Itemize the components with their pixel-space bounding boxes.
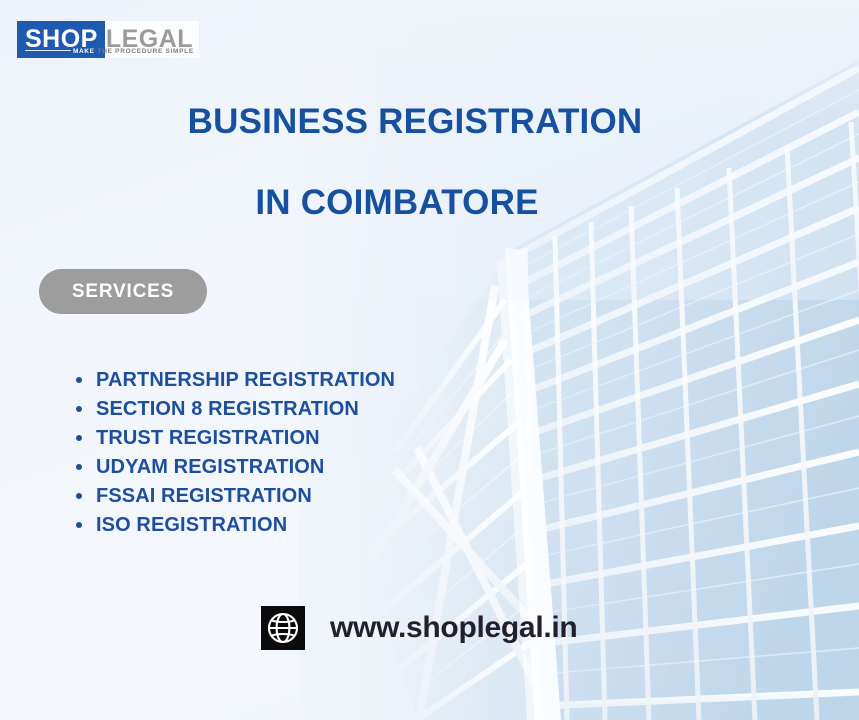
service-label: TRUST REGISTRATION: [96, 427, 320, 449]
services-badge-label: SERVICES: [72, 281, 174, 303]
list-item: UDYAM REGISTRATION: [70, 456, 395, 478]
website-url[interactable]: www.shoplegal.in: [330, 611, 577, 645]
list-item: TRUST REGISTRATION: [70, 427, 395, 449]
services-list: PARTNERSHIP REGISTRATION SECTION 8 REGIS…: [70, 369, 395, 543]
bullet-icon: [76, 464, 82, 470]
logo-tagline-make: MAKE: [73, 48, 98, 55]
bullet-icon: [76, 522, 82, 528]
bullet-icon: [76, 493, 82, 499]
service-label: UDYAM REGISTRATION: [96, 456, 324, 478]
service-label: ISO REGISTRATION: [96, 514, 287, 536]
services-badge: SERVICES: [39, 269, 207, 314]
promotional-poster: SHOP LEGAL MAKE THE PROCEDURE SIMPLE BUS…: [0, 0, 859, 720]
globe-icon: [261, 606, 305, 650]
headline-line-2: IN COIMBATORE: [0, 183, 794, 223]
service-label: PARTNERSHIP REGISTRATION: [96, 369, 395, 391]
service-label: FSSAI REGISTRATION: [96, 485, 312, 507]
list-item: FSSAI REGISTRATION: [70, 485, 395, 507]
logo-tagline: MAKE THE PROCEDURE SIMPLE: [73, 48, 194, 55]
list-item: PARTNERSHIP REGISTRATION: [70, 369, 395, 391]
logo-underline: [25, 50, 71, 51]
logo-tagline-rest: THE PROCEDURE SIMPLE: [98, 48, 194, 55]
shoplegal-logo[interactable]: SHOP LEGAL MAKE THE PROCEDURE SIMPLE: [17, 21, 199, 58]
service-label: SECTION 8 REGISTRATION: [96, 398, 359, 420]
list-item: SECTION 8 REGISTRATION: [70, 398, 395, 420]
list-item: ISO REGISTRATION: [70, 514, 395, 536]
bullet-icon: [76, 406, 82, 412]
bullet-icon: [76, 377, 82, 383]
bullet-icon: [76, 435, 82, 441]
website-footer[interactable]: www.shoplegal.in: [261, 606, 577, 650]
headline-line-1: BUSINESS REGISTRATION: [0, 103, 830, 141]
